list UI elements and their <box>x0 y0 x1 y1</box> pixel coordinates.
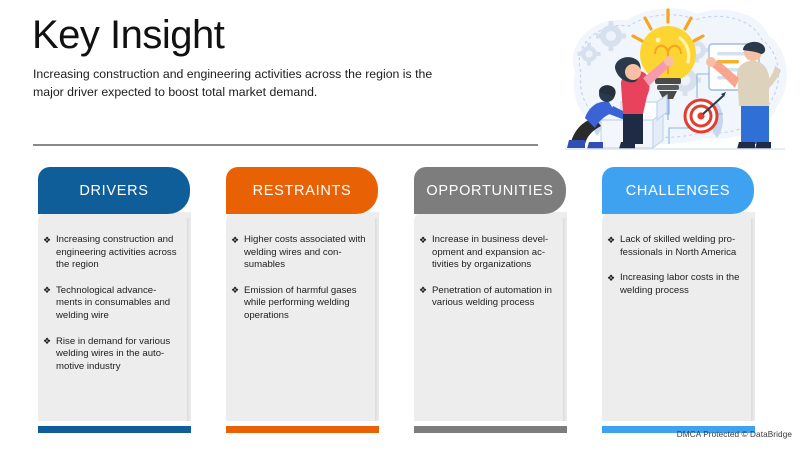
insight-card-opportunities[interactable]: OPPORTUNITIES ❖ Increase in business dev… <box>414 167 570 433</box>
diamond-bullet-icon: ❖ <box>231 234 239 247</box>
diamond-bullet-icon: ❖ <box>231 284 239 297</box>
card-header-opportunities[interactable]: OPPORTUNITIES <box>414 167 566 214</box>
card-header-challenges[interactable]: CHALLENGES <box>602 167 754 214</box>
card-title-challenges: CHALLENGES <box>626 183 731 199</box>
list-item-text: Increase in business devel-opment and ex… <box>432 234 548 270</box>
card-body-restraints: ❖ Higher costs associated with welding w… <box>226 212 379 421</box>
card-title-opportunities: OPPORTUNITIES <box>426 183 553 199</box>
card-body-drivers: ❖ Increasing construction and engineerin… <box>38 212 191 421</box>
bullet-list-opportunities: ❖ Increase in business devel-opment and … <box>419 234 557 310</box>
list-item-text: Emission of harmful gases while performi… <box>244 285 357 321</box>
insight-cards: DRIVERS ❖ Increasing construction and en… <box>0 0 800 450</box>
insight-card-challenges[interactable]: CHALLENGES ❖ Lack of skilled welding pro… <box>602 167 758 433</box>
list-item-text: Increasing construction and engineering … <box>56 234 177 270</box>
list-item-text: Lack of skilled welding pro-fessionals i… <box>620 234 736 258</box>
list-item: ❖ Technological advance-ments in consuma… <box>43 285 181 323</box>
diamond-bullet-icon: ❖ <box>43 284 51 297</box>
list-item-text: Increasing labor costs in the welding pr… <box>620 272 739 296</box>
diamond-bullet-icon: ❖ <box>419 234 427 247</box>
insight-card-drivers[interactable]: DRIVERS ❖ Increasing construction and en… <box>38 167 194 433</box>
bullet-list-drivers: ❖ Increasing construction and engineerin… <box>43 234 181 373</box>
card-header-drivers[interactable]: DRIVERS <box>38 167 190 214</box>
list-item: ❖ Lack of skilled welding pro-fessionals… <box>607 234 745 259</box>
list-item: ❖ Rise in demand for various welding wir… <box>43 336 181 374</box>
card-accent-bar-opportunities <box>414 426 567 433</box>
card-body-challenges: ❖ Lack of skilled welding pro-fessionals… <box>602 212 755 421</box>
diamond-bullet-icon: ❖ <box>607 234 615 247</box>
list-item: ❖ Increase in business devel-opment and … <box>419 234 557 272</box>
card-header-restraints[interactable]: RESTRAINTS <box>226 167 378 214</box>
card-title-restraints: RESTRAINTS <box>253 183 352 199</box>
bullet-list-challenges: ❖ Lack of skilled welding pro-fessionals… <box>607 234 745 297</box>
list-item: ❖ Increasing construction and engineerin… <box>43 234 181 272</box>
slide-root: Key Insight Increasing construction and … <box>0 0 800 450</box>
diamond-bullet-icon: ❖ <box>43 234 51 247</box>
list-item-text: Technological advance-ments in consumabl… <box>56 285 170 321</box>
bullet-list-restraints: ❖ Higher costs associated with welding w… <box>231 234 369 323</box>
card-accent-bar-drivers <box>38 426 191 433</box>
list-item-text: Higher costs associated with welding wir… <box>244 234 366 270</box>
card-title-drivers: DRIVERS <box>79 183 148 199</box>
list-item-text: Penetration of automation in various wel… <box>432 285 552 309</box>
list-item: ❖ Higher costs associated with welding w… <box>231 234 369 272</box>
insight-card-restraints[interactable]: RESTRAINTS ❖ Higher costs associated wit… <box>226 167 382 433</box>
list-item: ❖ Penetration of automation in various w… <box>419 285 557 310</box>
list-item: ❖ Increasing labor costs in the welding … <box>607 272 745 297</box>
card-accent-bar-restraints <box>226 426 379 433</box>
diamond-bullet-icon: ❖ <box>607 272 615 285</box>
dmca-footer-note: DMCA Protected © DataBridge <box>677 430 792 439</box>
diamond-bullet-icon: ❖ <box>419 284 427 297</box>
list-item-text: Rise in demand for various welding wires… <box>56 336 170 372</box>
list-item: ❖ Emission of harmful gases while perfor… <box>231 285 369 323</box>
diamond-bullet-icon: ❖ <box>43 335 51 348</box>
card-body-opportunities: ❖ Increase in business devel-opment and … <box>414 212 567 421</box>
